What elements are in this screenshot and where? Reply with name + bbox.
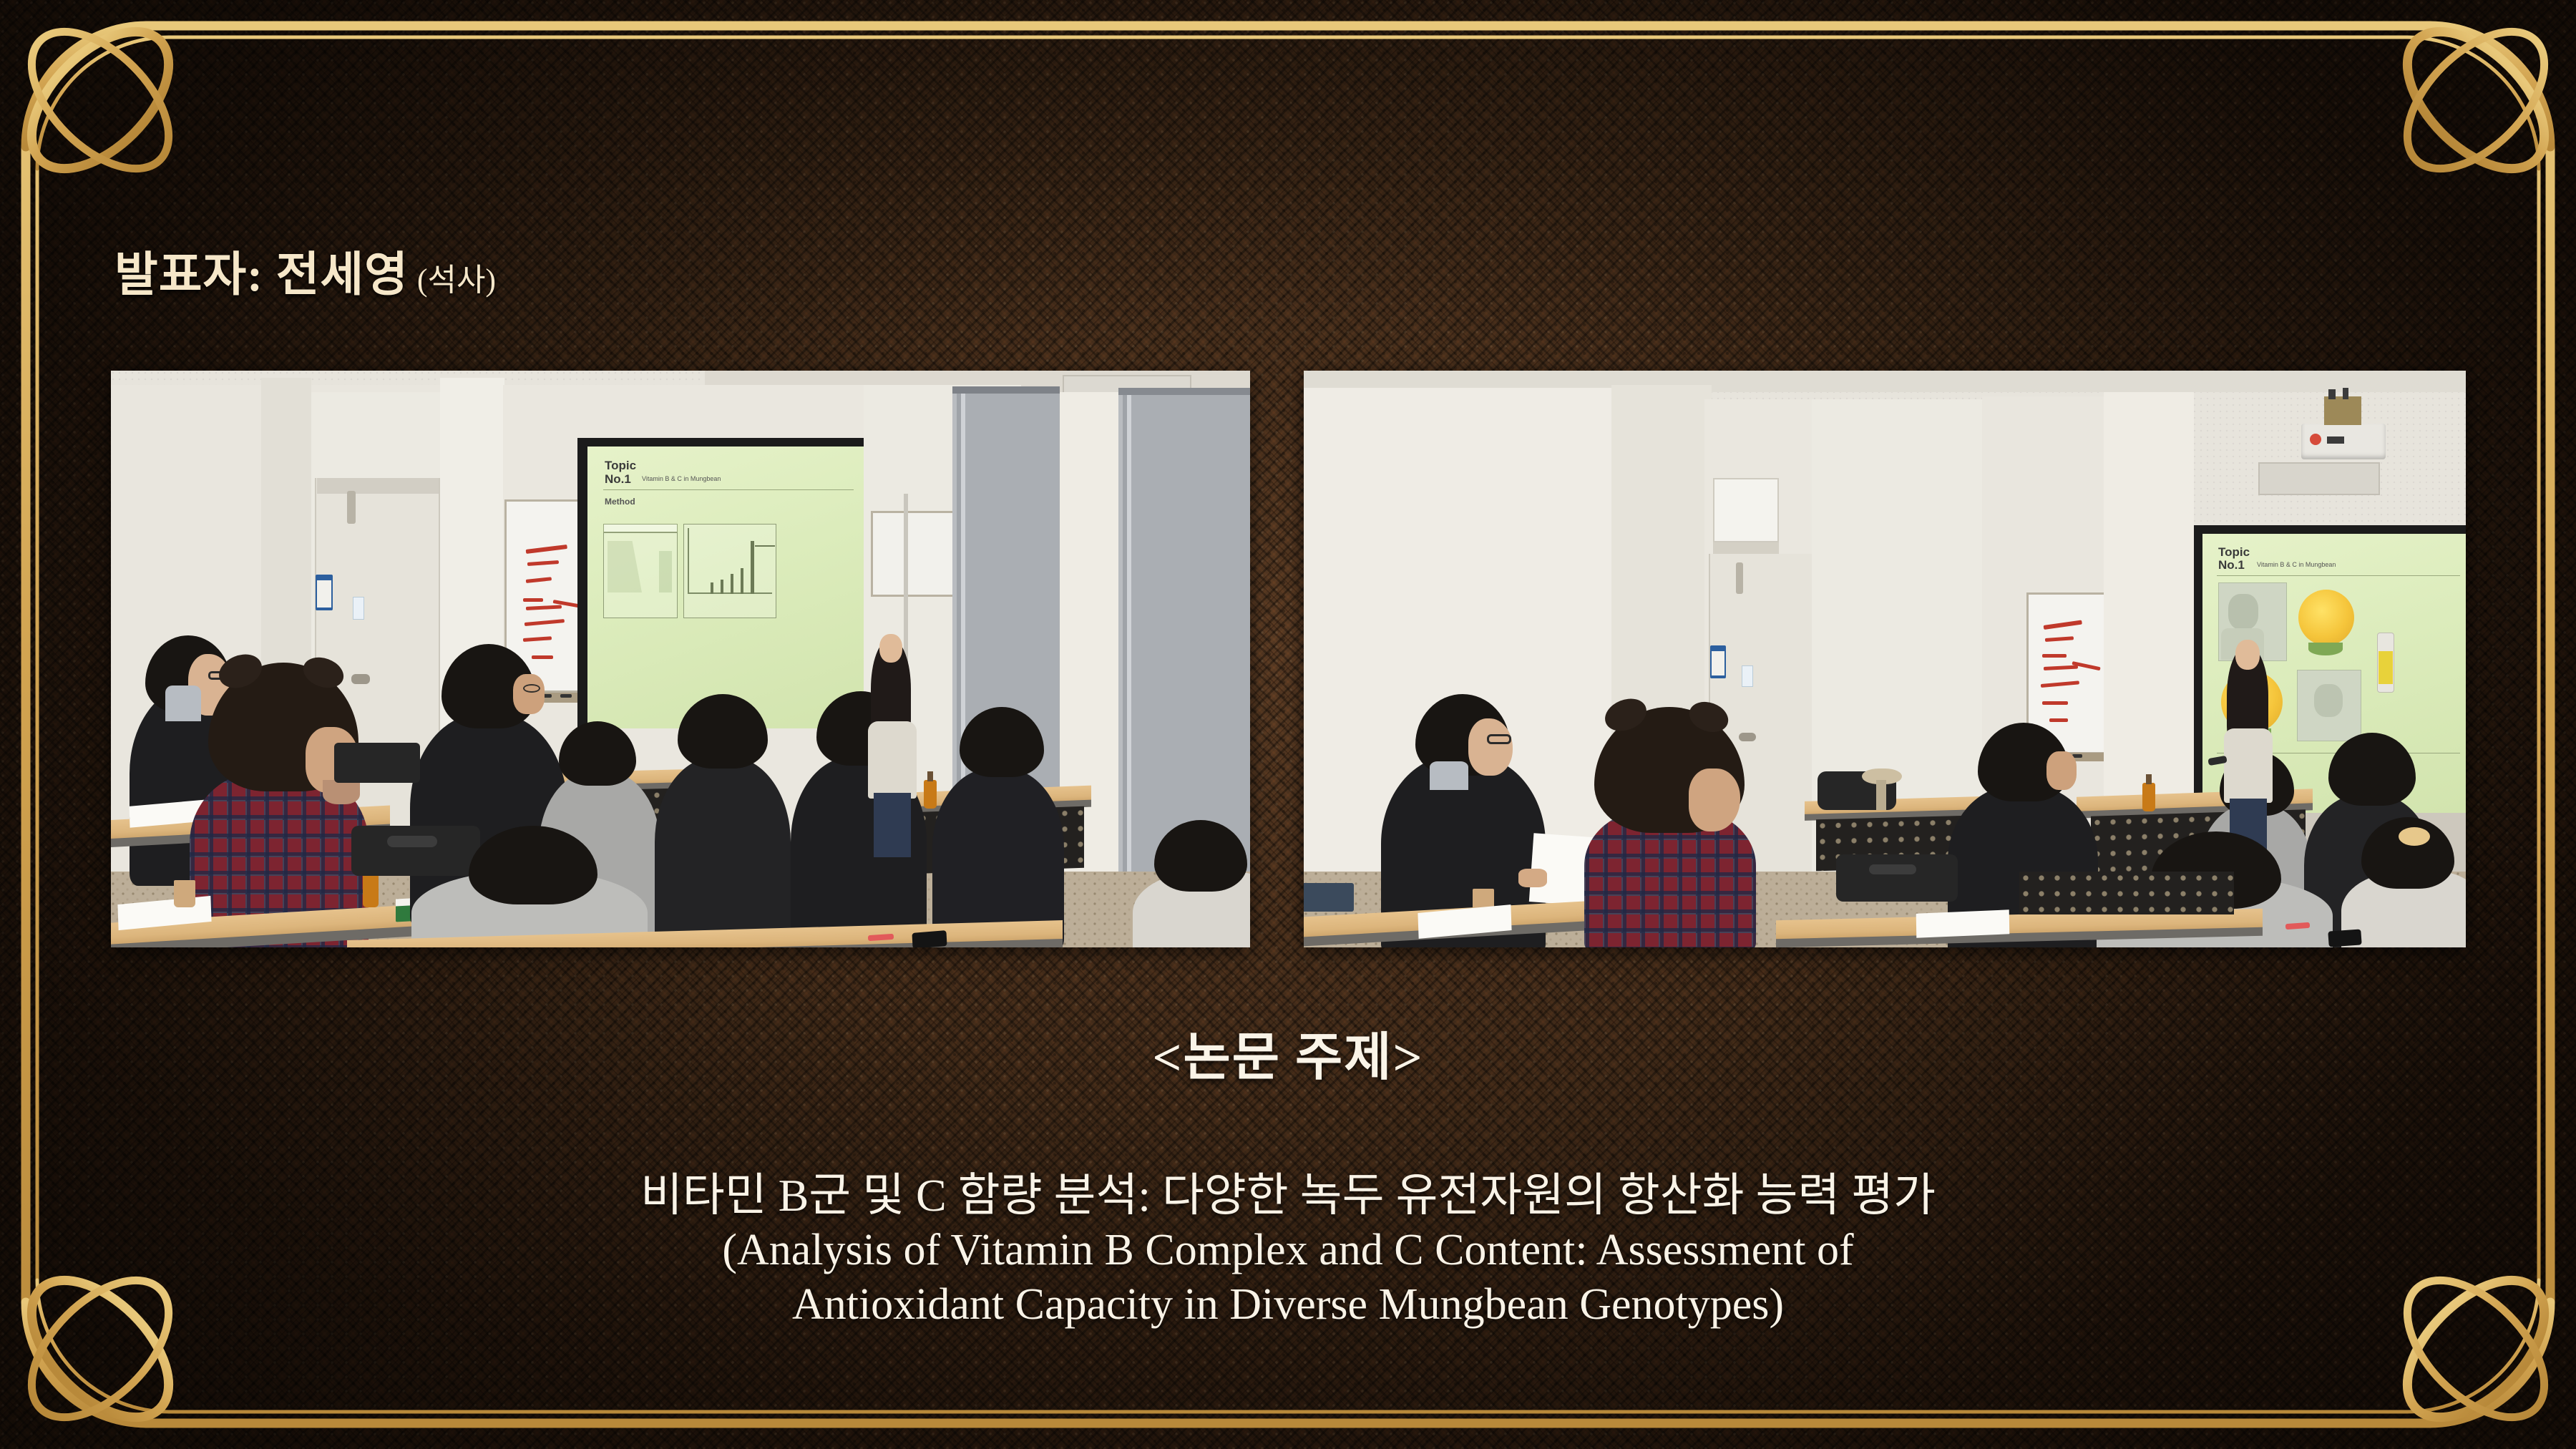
presenter-degree-label: (석사) (417, 263, 496, 298)
thesis-title-english-line2: Antioxidant Capacity in Diverse Mungbean… (236, 1278, 2340, 1332)
thesis-title-korean: 비타민 B군 및 C 함량 분석: 다양한 녹두 유전자원의 항산화 능력 평가 (236, 1168, 2340, 1224)
corner-ornament-bottom-left (7, 1256, 193, 1442)
presenter-name-label: 발표자: 전세영 (114, 249, 409, 301)
corner-ornament-bottom-right (2383, 1256, 2569, 1442)
thesis-title-block: 비타민 B군 및 C 함량 분석: 다양한 녹두 유전자원의 항산화 능력 평가… (236, 1168, 2340, 1332)
corner-ornament-top-right (2383, 7, 2569, 193)
subject-heading: <논문 주제> (0, 1015, 2576, 1090)
seminar-room-wide-photo: Topic No.1 Vitamin B & C in Mungbean (1304, 371, 2466, 947)
thesis-title-english-line1: (Analysis of Vitamin B Complex and C Con… (236, 1224, 2340, 1278)
corner-ornament-top-left (7, 7, 193, 193)
presenter-header: 발표자: 전세영(석사) (114, 236, 496, 305)
seminar-room-audience-photo: Topic No.1 Vitamin B & C in Mungbean Met… (111, 371, 1250, 947)
presentation-slide: 발표자: 전세영(석사) (0, 0, 2576, 1449)
